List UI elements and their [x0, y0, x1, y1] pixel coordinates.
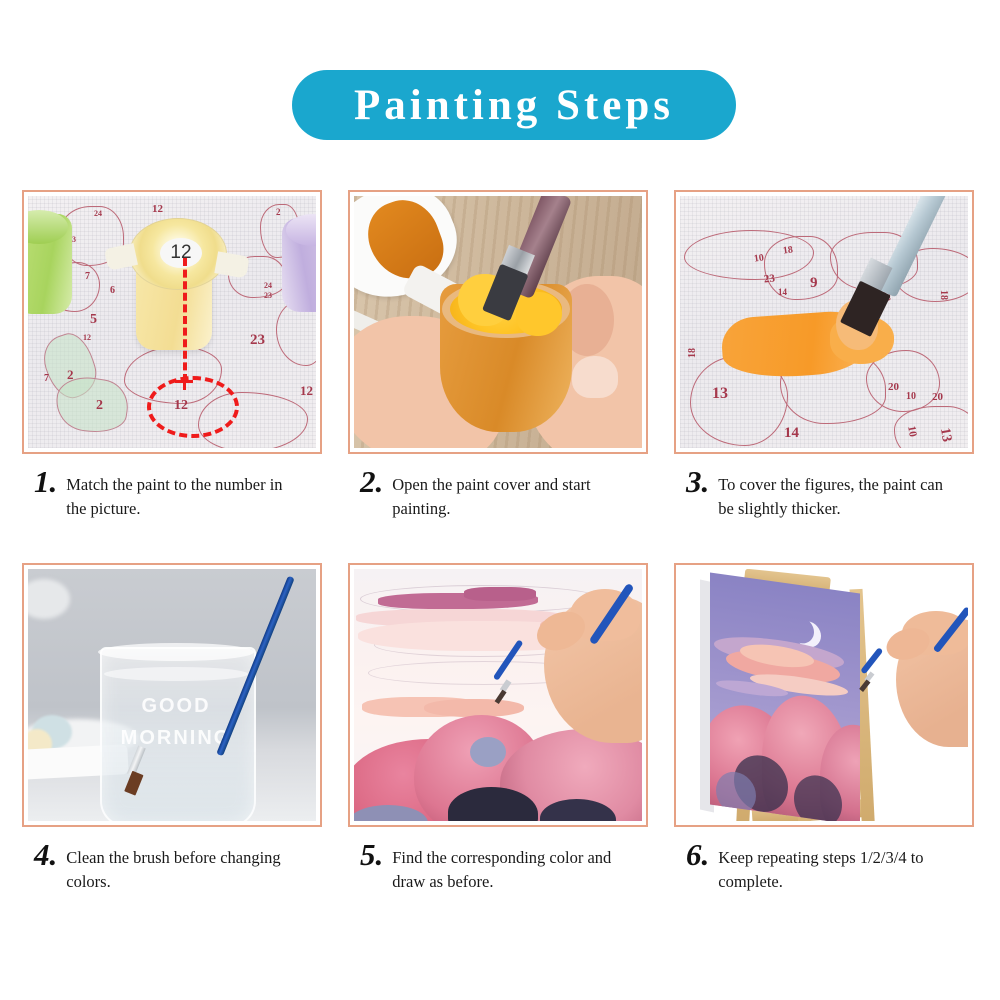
step-card-1: 12 24 2 7 6 5 24 23 12 2 7 2 23 12 3	[22, 190, 326, 521]
step-3-text: To cover the figures, the paint can be s…	[718, 468, 950, 521]
canvas-number: 14	[778, 288, 787, 297]
canvas-number: 18	[782, 245, 793, 256]
step-4-text: Clean the brush before changing colors.	[66, 841, 298, 894]
step-5-number: 5.	[360, 841, 383, 869]
paint-blob	[516, 292, 562, 336]
canvas-number: 23	[763, 273, 775, 285]
step-4-photo-frame: GOOD MORNING	[22, 563, 322, 827]
glass-rim	[98, 643, 254, 661]
step-5-caption: 5. Find the corresponding color and draw…	[348, 841, 652, 894]
open-paint-pot-photo	[354, 196, 642, 448]
canvas-number: 18	[938, 290, 948, 300]
painting-canvas	[710, 572, 860, 821]
finished-painting-on-easel-photo	[680, 569, 968, 821]
step-card-6: 6. Keep repeating steps 1/2/3/4 to compl…	[674, 563, 978, 894]
step-1-text: Match the paint to the number in the pic…	[66, 468, 298, 521]
partially-painted-canvas-photo	[354, 569, 642, 821]
canvas-number: 7	[85, 272, 90, 282]
canvas-number: 12	[300, 384, 313, 397]
canvas-number: 10	[906, 392, 916, 402]
canvas-number: 14	[784, 426, 799, 441]
step-2-photo-frame	[348, 190, 648, 454]
pot-number-badge: 12	[160, 238, 202, 268]
row-spacer	[0, 521, 1000, 563]
step-4-number: 4.	[34, 841, 57, 869]
steps-row-1: 12 24 2 7 6 5 24 23 12 2 7 2 23 12 3	[0, 190, 1000, 521]
canvas-number: 6	[110, 286, 115, 296]
painting-steps-grid: 12 24 2 7 6 5 24 23 12 2 7 2 23 12 3	[0, 190, 1000, 894]
step-1-photo-frame: 12 24 2 7 6 5 24 23 12 2 7 2 23 12 3	[22, 190, 322, 454]
crescent-moon	[788, 615, 814, 645]
canvas-number: 12	[152, 204, 163, 215]
canvas-number: 3	[72, 236, 76, 244]
canvas-number: 20	[888, 382, 899, 393]
step-1-number: 1.	[34, 468, 57, 496]
step-1-caption: 1. Match the paint to the number in the …	[22, 468, 326, 521]
step-2-text: Open the paint cover and start painting.	[392, 468, 624, 521]
step-3-caption: 3. To cover the figures, the paint can b…	[674, 468, 978, 521]
step-6-text: Keep repeating steps 1/2/3/4 to complete…	[718, 841, 950, 894]
canvas-number: 23	[250, 333, 265, 348]
step-2-number: 2.	[360, 468, 383, 496]
paint-pot-number-match-photo: 12 24 2 7 6 5 24 23 12 2 7 2 23 12 3	[28, 196, 316, 448]
canvas-number: 13	[712, 386, 728, 402]
rinse-brush-in-glass-photo: GOOD MORNING	[28, 569, 316, 821]
canvas-number: 2	[276, 208, 281, 217]
canvas-number: 5	[90, 313, 97, 327]
painted-stroke	[464, 587, 536, 601]
page-header-banner: Painting Steps	[292, 70, 736, 140]
step-5-text: Find the corresponding color and draw as…	[392, 841, 624, 894]
canvas-number: 9	[810, 276, 818, 291]
step-card-3: 10 18 23 14 9 20 20 18 18 13 14 20 10 20…	[674, 190, 978, 521]
canvas-number: 23	[264, 292, 272, 300]
canvas-outline-shape	[764, 236, 838, 300]
step-3-photo-frame: 10 18 23 14 9 20 20 18 18 13 14 20 10 20…	[674, 190, 974, 454]
canvas-number: 10	[753, 253, 764, 264]
water-surface	[104, 667, 248, 681]
step-2-caption: 2. Open the paint cover and start painti…	[348, 468, 652, 521]
canvas-number: 24	[264, 282, 272, 290]
canvas-number: 10	[905, 425, 918, 438]
glass-text-line-1: GOOD	[120, 695, 232, 718]
canvas-number: 13	[937, 427, 953, 443]
step-card-2: 2. Open the paint cover and start painti…	[348, 190, 652, 521]
canvas-number: 24	[94, 210, 102, 218]
canvas-number: 7	[44, 374, 49, 384]
step-card-5: 5. Find the corresponding color and draw…	[348, 563, 652, 894]
step-card-4: GOOD MORNING 4. Clean the brush before c…	[22, 563, 326, 894]
canvas-number: 18	[688, 348, 698, 358]
step-6-caption: 6. Keep repeating steps 1/2/3/4 to compl…	[674, 841, 978, 894]
painted-stroke	[424, 699, 524, 717]
steps-row-2: GOOD MORNING 4. Clean the brush before c…	[0, 563, 1000, 894]
canvas-number: 12	[83, 334, 91, 342]
pot-number-label: 12	[170, 242, 191, 264]
step-6-photo-frame	[674, 563, 974, 827]
page-title: Painting Steps	[354, 84, 674, 127]
blue-foliage	[470, 737, 506, 767]
step-3-number: 3.	[686, 468, 709, 496]
step-6-number: 6.	[686, 841, 709, 869]
match-connector-line	[183, 258, 187, 382]
canvas-number: 2	[96, 399, 103, 413]
canvas-number: 2	[67, 368, 74, 381]
brush-applying-paint-photo: 10 18 23 14 9 20 20 18 18 13 14 20 10 20…	[680, 196, 968, 448]
fingernail	[572, 356, 618, 398]
step-4-caption: 4. Clean the brush before changing color…	[22, 841, 326, 894]
step-5-photo-frame	[348, 563, 648, 827]
canvas-number: 20	[932, 392, 943, 403]
target-region-highlight	[147, 376, 239, 438]
target-region-number: 12	[174, 399, 188, 413]
